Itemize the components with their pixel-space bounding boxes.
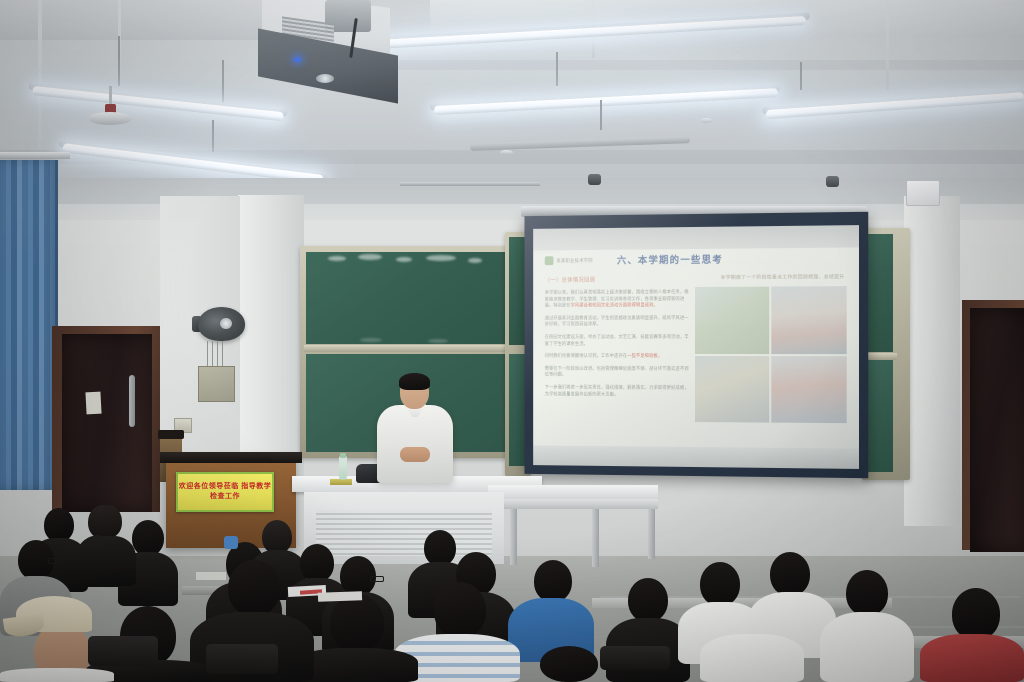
- mounting-rail: [400, 182, 540, 186]
- blackboard-right-frame: [862, 228, 910, 480]
- student-head: [770, 552, 810, 596]
- desk-leg: [592, 509, 599, 567]
- paragraph-text: 通过开展系列主题教育活动，学生的思想政治素质明显提升，班风学风进一步好转，学习氛…: [545, 315, 689, 327]
- slide-caption: 本学期做了一个阶段性重点工作的回顾梳理、总结提升: [721, 273, 845, 281]
- presenter-hair: [399, 373, 430, 390]
- projector-power-led: [294, 57, 301, 62]
- paragraph-highlight: 学风建设和校园文化活动方面取得明显成效。: [571, 302, 658, 307]
- desk-side-shelf: [504, 499, 658, 509]
- blackboard-panel-lower: [509, 354, 525, 466]
- student-head: [94, 505, 122, 538]
- water-bottle: [339, 456, 347, 480]
- ceiling-fan: [88, 112, 132, 125]
- chalk-smudge: [396, 257, 412, 262]
- slide-text-block: 本学期以来，我们认真贯彻落实上级决策部署，围绕立德树人根本任务，统筹推进教育教学…: [545, 289, 690, 404]
- blackboard-panel-upper: [306, 252, 526, 344]
- slide-bottom-band: [533, 445, 859, 469]
- slide-photo: [771, 286, 846, 353]
- ceiling-strut: [886, 0, 889, 90]
- slide-subtitle: （一）总体情况回顾: [545, 276, 596, 284]
- student-head: [846, 570, 888, 616]
- chalk-smudge: [328, 256, 346, 261]
- chalk-smudge: [428, 339, 448, 343]
- desk-leg: [510, 509, 517, 565]
- projector-lens: [316, 74, 334, 83]
- slide-paragraph: 需要在下一阶段加以改进。包括管理精细化程度不够、部分环节落实还不到位等问题。: [545, 365, 690, 378]
- light-suspension-rod: [212, 120, 214, 152]
- ceiling-strut: [38, 0, 42, 150]
- student-body: [700, 634, 804, 682]
- lectern-top-edge: [160, 452, 302, 463]
- student-head: [262, 520, 292, 554]
- paragraph-text: 需要在下一阶段加以改进。包括管理精细化程度不够、部分环节落实还不到位等问题。: [545, 365, 689, 376]
- paper-sheet: [318, 591, 362, 602]
- slide-logo-text: 某某职业技术学院: [556, 257, 593, 263]
- water-cup: [224, 536, 238, 549]
- ceiling-shadow: [380, 60, 1024, 70]
- slide-logo: 某某职业技术学院: [545, 256, 593, 265]
- chair-back: [206, 644, 278, 674]
- glasses-icon: [370, 576, 384, 582]
- water-bottle-cap: [340, 453, 346, 458]
- paragraph-text: 在校园文化建设方面，举办了运动会、文艺汇演、技能竞赛等多项活动，丰富了学生的课余…: [545, 334, 689, 346]
- slide-photo: [771, 356, 846, 424]
- slide-paragraph: 通过开展系列主题教育活动，学生的思想政治素质明显提升，班风学风进一步好转，学习氛…: [545, 315, 690, 328]
- student-body: [820, 612, 914, 682]
- student-head: [228, 560, 280, 616]
- lectern-banner-sign: 欢迎各位领导莅临 指导教学检查工作: [176, 472, 274, 512]
- desk-leg: [648, 509, 655, 559]
- slide-content: 某某职业技术学院 六、本学期的一些思考 （一）总体情况回顾 本学期做了一个阶段性…: [533, 225, 859, 469]
- student-head: [540, 646, 598, 682]
- chalk-smudge: [468, 258, 482, 263]
- student-head: [700, 562, 740, 606]
- student-head: [44, 508, 74, 542]
- fan-pull-cords[interactable]: [203, 341, 225, 367]
- ceiling-fan-rod: [109, 86, 112, 106]
- chalk-tray: [865, 353, 897, 360]
- blackboard-panel-upper: [509, 237, 525, 345]
- paragraph-highlight: 一些不足和短板，: [627, 353, 662, 358]
- slide-paragraph: 同时我们也要清醒地认识到，工作中还存在一些不足和短板，: [545, 353, 690, 360]
- chalk-smudge: [426, 255, 456, 261]
- student-head: [534, 560, 572, 602]
- trash-bin-lid: [158, 430, 184, 439]
- light-suspension-rod: [800, 62, 802, 90]
- student-body: [0, 668, 114, 682]
- smoke-detector: [700, 118, 713, 123]
- ceiling-panel: [0, 0, 300, 40]
- slide-photo: [695, 356, 769, 423]
- blackboard-panel-upper: [867, 234, 893, 352]
- lectern-banner-text: 欢迎各位领导莅临 指导教学检查工作: [178, 482, 272, 502]
- light-suspension-rod: [600, 100, 602, 130]
- wall-fan-hub: [220, 318, 232, 329]
- window-curtain: [0, 160, 58, 490]
- chair-back: [600, 646, 670, 670]
- door-right[interactable]: [970, 308, 1024, 552]
- slide-top-band: [533, 225, 859, 250]
- student-head: [424, 530, 456, 566]
- presenter-hands: [400, 447, 430, 462]
- student-head: [330, 594, 384, 652]
- chair-back: [88, 636, 158, 666]
- slide-paragraph: 在校园文化建设方面，举办了运动会、文艺汇演、技能竞赛等多项活动，丰富了学生的课余…: [545, 334, 690, 347]
- door-handle-left[interactable]: [129, 375, 135, 427]
- blackboard-panel-lower: [867, 360, 893, 472]
- chalk-tray: [304, 345, 528, 352]
- desk-louver-vent: [316, 510, 492, 556]
- slide-photo: [695, 287, 769, 354]
- student-head: [300, 544, 334, 582]
- chalk-smudge: [358, 254, 382, 260]
- projection-screen: 某某职业技术学院 六、本学期的一些思考 （一）总体情况回顾 本学期做了一个阶段性…: [524, 212, 868, 478]
- student-head: [434, 582, 486, 638]
- wall-pillar: [238, 195, 304, 495]
- student-head: [952, 588, 1000, 640]
- student-head: [628, 578, 668, 622]
- student-body: [84, 536, 136, 586]
- curtain-rail: [0, 152, 70, 159]
- slide-title: 六、本学期的一些思考: [617, 252, 723, 267]
- paragraph-text: 同时我们也要清醒地认识到，工作中还存在: [545, 353, 627, 358]
- slide-paragraph: 本学期以来，我们认真贯彻落实上级决策部署，围绕立德树人根本任务，统筹推进教育教学…: [545, 289, 690, 309]
- glasses-icon: [48, 558, 63, 564]
- smoke-detector: [500, 150, 513, 155]
- door-left[interactable]: [62, 334, 152, 512]
- electrical-panel-box[interactable]: [198, 366, 235, 402]
- light-suspension-rod: [556, 52, 558, 86]
- desk-extension-surface: [488, 485, 658, 499]
- student-head: [132, 520, 164, 556]
- institution-logo-icon: [545, 256, 554, 265]
- paragraph-text: 下一步我们将进一步压实责任，强化措施，狠抓落实，力求取得更好成绩，为学校高质量发…: [545, 384, 689, 396]
- light-suspension-rod: [222, 60, 224, 108]
- light-suspension-rod: [118, 36, 120, 86]
- slide-paragraph: 下一步我们将进一步压实责任，强化措施，狠抓落实，力求取得更好成绩，为学校高质量发…: [545, 384, 690, 398]
- slide-photo-grid: [695, 286, 847, 423]
- paper-sheet: [196, 572, 226, 580]
- classroom-photo: 某某职业技术学院 六、本学期的一些思考 （一）总体情况回顾 本学期做了一个阶段性…: [0, 0, 1024, 682]
- door-notice-paper: [85, 392, 101, 415]
- student-body: [920, 634, 1024, 682]
- chalk-smudge: [360, 338, 382, 342]
- speaker-icon: [826, 176, 839, 187]
- wall-pillar: [904, 196, 960, 526]
- wall-control-box[interactable]: [906, 180, 940, 206]
- speaker-icon: [588, 174, 601, 185]
